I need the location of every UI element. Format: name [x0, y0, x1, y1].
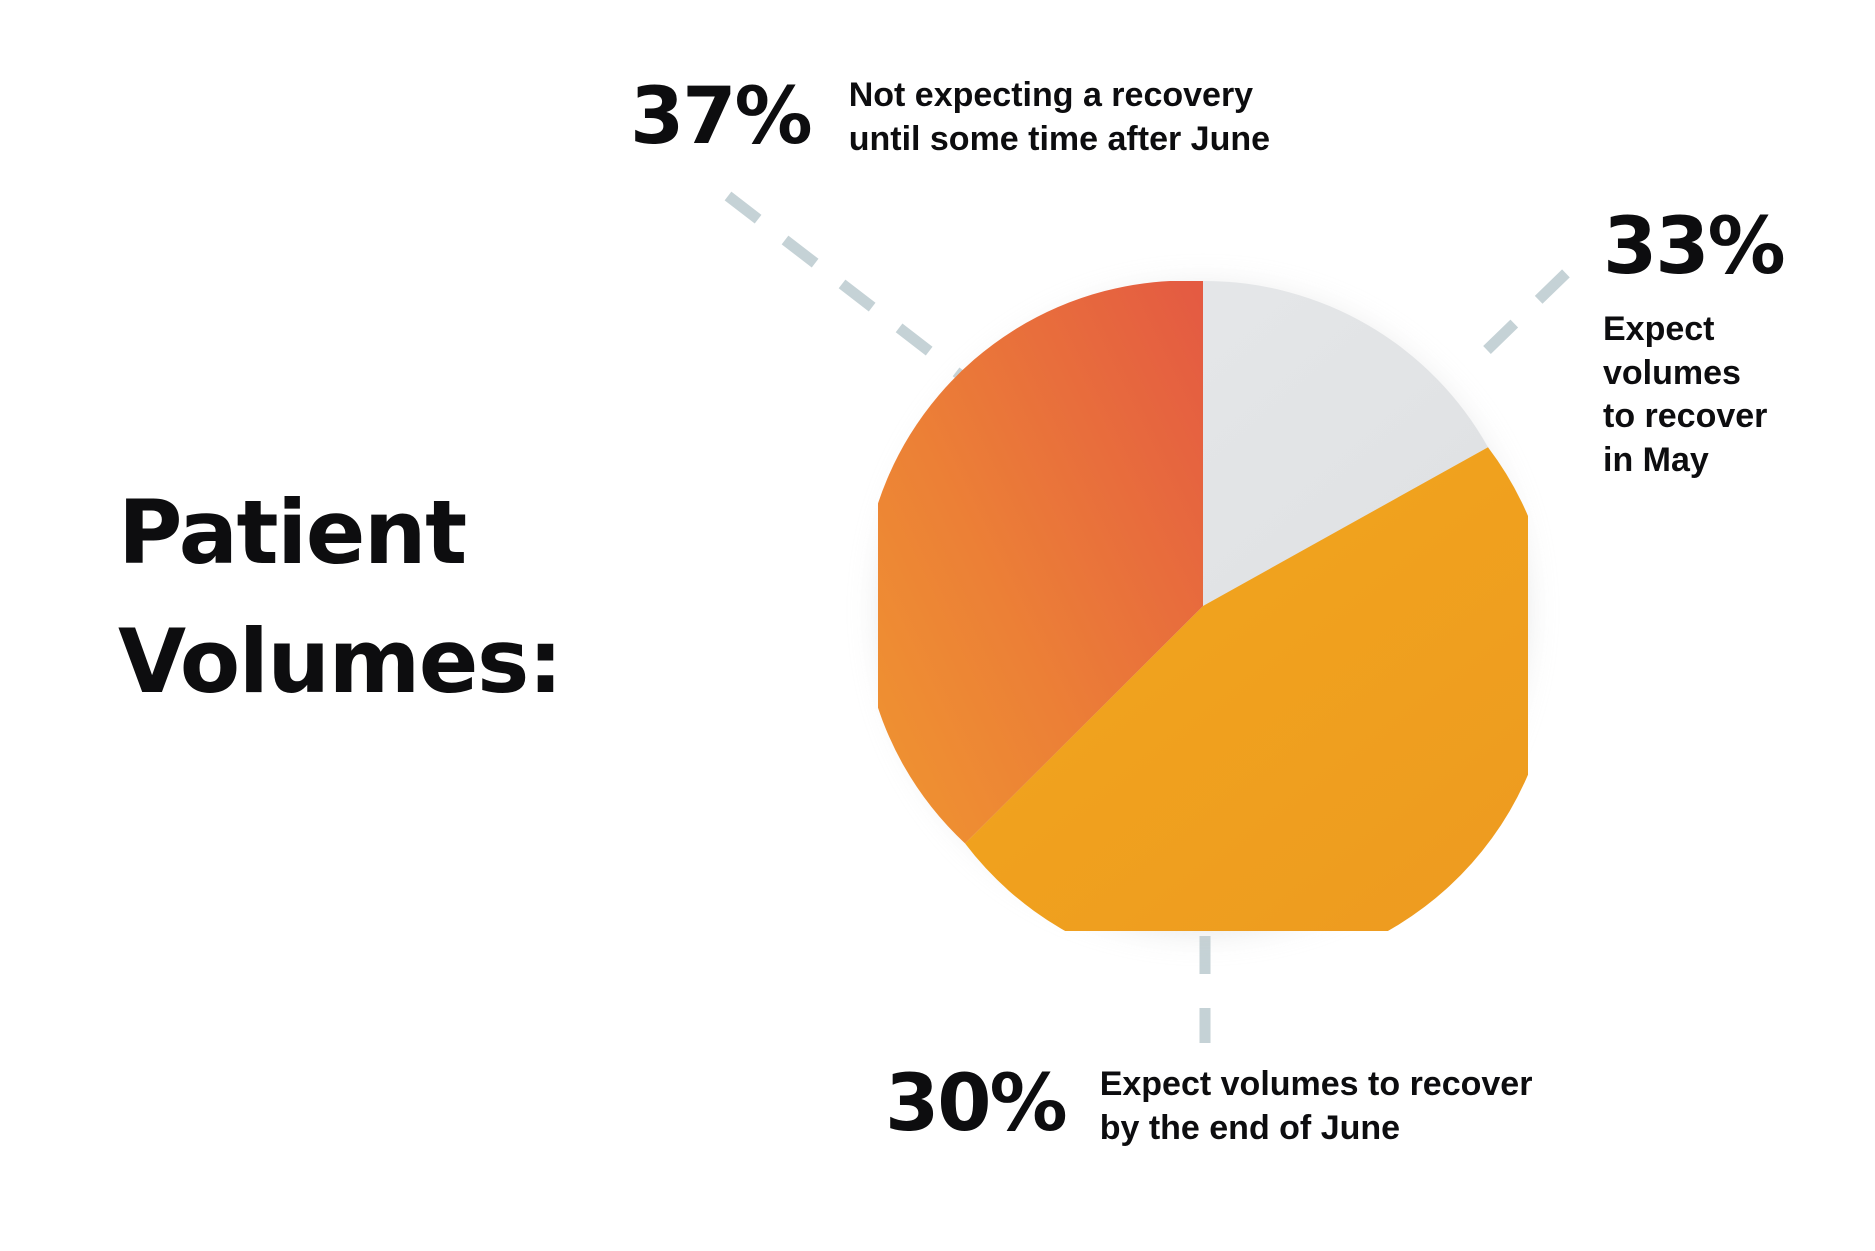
page-title: Patient Volumes:: [118, 468, 678, 727]
callout-description-37: Not expecting a recovery until some time…: [849, 74, 1389, 161]
pie-svg: [878, 281, 1528, 931]
callout-end-of-june: 30% Expect volumes to recover by the end…: [885, 1063, 1660, 1150]
pie-chart: [878, 281, 1528, 931]
callout-may: 33% Expect volumes to recover in May: [1603, 208, 1863, 482]
callout-description-30: Expect volumes to recover by the end of …: [1100, 1063, 1660, 1150]
callout-percent-33: 33%: [1603, 208, 1863, 286]
callout-description-33: Expect volumes to recover in May: [1603, 308, 1843, 482]
callout-percent-37: 37%: [630, 74, 811, 156]
callout-after-june: 37% Not expecting a recovery until some …: [630, 74, 1389, 161]
infographic-canvas: Patient Volumes:: [0, 0, 1875, 1251]
callout-percent-30: 30%: [885, 1063, 1066, 1143]
